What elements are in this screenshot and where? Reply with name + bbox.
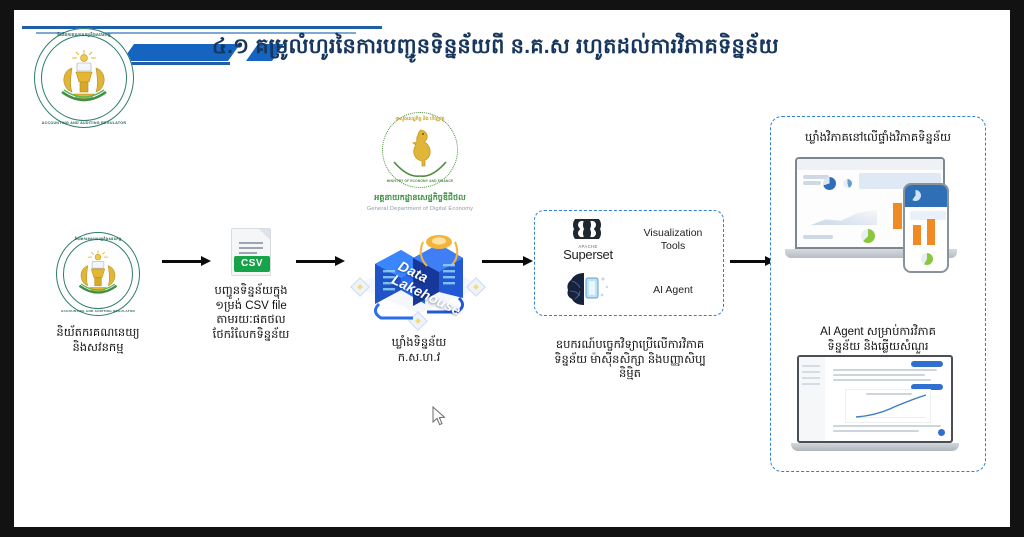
dashboard-bar bbox=[893, 203, 902, 229]
node-csv-transfer[interactable]: CSV បញ្ជូនទិន្នន័យក្នុង ១ម្រង់ CSV file … bbox=[190, 228, 312, 342]
ai-brain-chip-icon bbox=[564, 269, 612, 309]
phone-bar bbox=[927, 219, 935, 245]
arrow-csv-to-lakehouse bbox=[296, 260, 336, 263]
gdde-label-en: General Department of Digital Economy bbox=[344, 206, 496, 212]
logo-top-text: ក្រសួងសេដ្ឋកិច្ច និង ហិរញ្ញវត្ថុ bbox=[382, 116, 458, 123]
node-lakehouse-caption: ឃ្លាំងទិន្នន័យ ក.ស.ហ.វ bbox=[336, 336, 502, 365]
acar-seal-header: និយ័តករគណនេយ្យនិងសវនកម្ម ACCOUNTING AND … bbox=[34, 28, 134, 128]
seal-bottom-text: ACCOUNTING AND AUDITING REGULATOR bbox=[34, 121, 134, 125]
dashboard-laptop-and-phone-mock bbox=[785, 157, 973, 277]
node-data-lakehouse[interactable]: Data Lakehouse ឃ្លាំងទិន្នន័យ ក.ស.ហ.វ bbox=[336, 218, 502, 365]
tool-row-ai-agent[interactable]: AI Agent bbox=[535, 267, 725, 313]
royal-emblem-icon bbox=[71, 250, 125, 298]
results-caption: AI Agent សម្រាប់ការវិភាគ ទិន្នន័យ និងឆ្ល… bbox=[777, 325, 979, 355]
tool-row-visualization[interactable]: APACHE Superset Visualization Tools bbox=[535, 217, 725, 263]
arrow-lakehouse-to-tools bbox=[482, 260, 524, 263]
slide-header: និយ័តករគណនេយ្យនិងសវនកម្ម ACCOUNTING AND … bbox=[14, 10, 1010, 94]
phone-donut bbox=[910, 190, 921, 201]
laptop-base bbox=[791, 443, 959, 451]
ai-brain-icon bbox=[557, 269, 619, 314]
logo-ring-text: MINISTRY OF ECONOMY AND FINANCE bbox=[382, 179, 458, 183]
node-acar-source[interactable]: និយ័តករគណនេយ្យនិងសវនកម្ម ACCOUNTING AND … bbox=[26, 232, 170, 355]
seal-top-text: និយ័តករគណនេយ្យនិងសវនកម្ម bbox=[56, 236, 140, 242]
node-gdde-logo: ក្រសួងសេដ្ឋកិច្ច និង ហិរញ្ញវត្ថុ MINISTR… bbox=[344, 112, 496, 212]
dashboard-topbar bbox=[797, 159, 943, 170]
data-lakehouse-illustration: Data Lakehouse bbox=[339, 218, 499, 330]
dashboard-donut bbox=[823, 177, 836, 190]
node-csv-caption: បញ្ជូនទិន្នន័យក្នុង ១ម្រង់ CSV file តាមរ… bbox=[190, 284, 312, 342]
dashboard-donut bbox=[843, 179, 852, 188]
apache-superset-logo: APACHE Superset bbox=[557, 219, 619, 262]
seal-top-text: និយ័តករគណនេយ្យនិងសវនកម្ម bbox=[34, 32, 134, 39]
presentation-viewport: និយ័តករគណនេយ្យនិងសវនកម្ម ACCOUNTING AND … bbox=[0, 0, 1024, 537]
doc-fold bbox=[259, 229, 270, 240]
chat-send-icon bbox=[938, 429, 945, 436]
dashboard-donut bbox=[861, 229, 875, 243]
node-analytics-results[interactable]: ឃ្លាំងវិភាគនៅលើផ្ទាំងវិភាគទិន្នន័យ bbox=[770, 116, 986, 472]
arrow-tools-to-results bbox=[730, 260, 766, 263]
gdde-label-kh: អគ្គនាយកដ្ឋានសេដ្ឋកិច្ចឌីជីថល bbox=[344, 192, 496, 204]
csv-badge: CSV bbox=[234, 256, 270, 272]
doc-line bbox=[239, 247, 263, 249]
results-title: ឃ្លាំងវិភាគនៅលើផ្ទាំងវិភាគទិន្នន័យ bbox=[777, 131, 979, 146]
csv-file-icon: CSV bbox=[231, 228, 271, 276]
header-underline bbox=[122, 62, 230, 65]
laptop-screen bbox=[797, 355, 953, 443]
tool-label-visualization: Visualization Tools bbox=[627, 217, 719, 263]
ai-chat-laptop-mock bbox=[791, 355, 971, 463]
phone-bar bbox=[913, 225, 921, 245]
superset-infinity-icon bbox=[565, 219, 611, 239]
line-chart-curve bbox=[856, 394, 926, 418]
seal-bottom-text: ACCOUNTING AND AUDITING REGULATOR bbox=[56, 309, 140, 313]
node-acar-caption: និយ័តករគណនេយ្យ និងសវនកម្ម bbox=[26, 326, 170, 355]
dashboard-placeholder bbox=[803, 235, 833, 239]
tool-label-ai-agent: AI Agent bbox=[627, 267, 719, 313]
phone-mock bbox=[903, 183, 949, 273]
acar-seal: និយ័តករគណនេយ្យនិងសវនកម្ម ACCOUNTING AND … bbox=[56, 232, 140, 316]
slide-canvas[interactable]: និយ័តករគណនេយ្យនិងសវនកម្ម ACCOUNTING AND … bbox=[14, 10, 1010, 527]
doc-line bbox=[239, 252, 257, 254]
doc-line bbox=[239, 242, 263, 244]
chat-primary-button bbox=[911, 361, 943, 367]
wreath-branches-icon bbox=[390, 158, 450, 178]
node-tools-caption: ឧបករណ៍បច្ចេកវិទ្យាប្រើលើការវិភាគ ទិន្នន័… bbox=[520, 338, 740, 382]
dashboard-area-chart bbox=[811, 205, 877, 225]
chat-line-chart bbox=[845, 389, 931, 423]
superset-brand: Superset bbox=[557, 247, 619, 262]
page-title: ៤.១ គម្រូលំហូរនៃការបញ្ជូនទិន្នន័យពី ន.គ.… bbox=[212, 32, 992, 62]
mef-logo-icon: ក្រសួងសេដ្ឋកិច្ច និង ហិរញ្ញវត្ថុ MINISTR… bbox=[382, 112, 458, 188]
mouse-cursor bbox=[432, 406, 446, 426]
chat-sidebar bbox=[799, 357, 825, 441]
dashboard-placeholder bbox=[803, 181, 821, 185]
royal-emblem-icon bbox=[52, 50, 116, 106]
node-analytics-tools[interactable]: APACHE Superset Visualization Tools bbox=[534, 210, 724, 316]
phone-donut bbox=[921, 253, 933, 265]
